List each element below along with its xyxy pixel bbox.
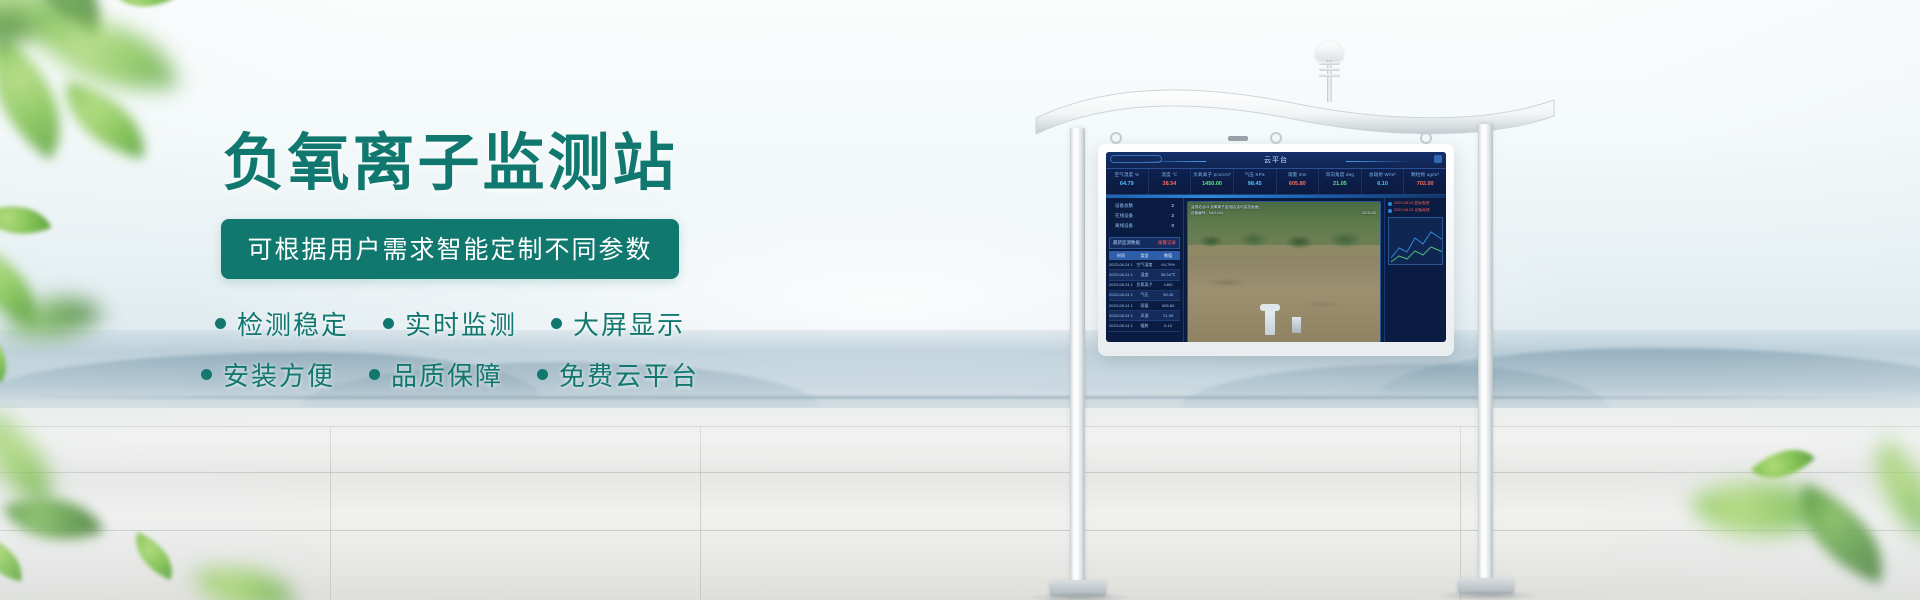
weather-sensor-mast (1312, 32, 1346, 98)
metric-cell: 总辐射 W/m²6.10 (1362, 169, 1405, 194)
support-post-right (1478, 124, 1493, 586)
table-cell: 负氧离子 (1133, 281, 1157, 290)
table-row[interactable]: 2023-08-24 10:29:02负氧离子1450 (1109, 281, 1180, 291)
metric-value: 605.80 (1277, 181, 1319, 187)
panel-title-left: 最新监测数据 (1113, 240, 1140, 246)
table-cell: 21.05 (1156, 311, 1180, 320)
table-row[interactable]: 2023-08-24 10:25:02辐射6.10 (1109, 321, 1180, 331)
metric-cell: 负氧离子 pcs/cm³1450.00 (1191, 169, 1234, 194)
stat-key: 离线设备 (1115, 223, 1133, 229)
table-cell: 风速 (1133, 311, 1157, 320)
alarm-text: 2023-08-23 设备离线 (1394, 208, 1430, 213)
data-table: 时间类型数值 2023-08-24 10:31:02空气湿度64.79%2023… (1109, 251, 1180, 332)
video-overlay-line1: 监测站点01 负氧离子监测站(实时监控画面) (1191, 205, 1259, 210)
table-cell: 2023-08-24 10:31:02 (1109, 260, 1133, 269)
pavement-line (700, 426, 701, 600)
video-treeline (1188, 219, 1380, 256)
table-row[interactable]: 2023-08-24 10:31:02空气湿度64.79% (1109, 260, 1180, 270)
metric-value: 1450.00 (1191, 181, 1233, 187)
metric-value: 702.00 (1404, 181, 1446, 187)
alarm-text: 2023-08-24 超标报警 (1394, 201, 1430, 206)
metric-value: 98.45 (1234, 181, 1276, 187)
metric-cell: 温度 ℃38.54 (1149, 169, 1192, 194)
hanger-ring-icon (1420, 132, 1432, 144)
metric-strip: 空气湿度 %64.79温度 ℃38.54负氧离子 pcs/cm³1450.00气… (1106, 169, 1446, 195)
metric-label: 雨量 mm (1277, 172, 1319, 178)
feature-list: 检测稳定 实时监测 大屏显示 安装方便 品质保障 (0, 305, 900, 393)
dashboard-title: 云平台 (1106, 155, 1446, 165)
alert-dot-icon (1388, 202, 1392, 206)
stat-row: 离线设备0 (1109, 221, 1180, 231)
gear-icon[interactable] (1434, 155, 1442, 163)
bullet-dot-icon (551, 318, 562, 329)
hanger-ring-icon (1110, 132, 1122, 144)
table-cell: 98.45 (1156, 291, 1180, 300)
feature-item: 大屏显示 (551, 305, 685, 342)
video-overlay-line2: 设备编号：NKZ-001 (1191, 211, 1223, 216)
stat-row: 在线设备2 (1109, 211, 1180, 221)
sensor-head-icon (1316, 42, 1343, 60)
pavement-line (0, 426, 1920, 427)
sensor-fin (1319, 74, 1340, 77)
stat-key: 设备总数 (1115, 203, 1133, 209)
table-header-cell: 数值 (1156, 251, 1180, 260)
stat-value: 2 (1171, 203, 1174, 209)
feature-row-1: 检测稳定 实时监测 大屏显示 (0, 305, 900, 342)
badge-row: 可根据用户需求智能定制不同参数 (0, 219, 900, 279)
table-cell: 2023-08-24 10:28:02 (1109, 291, 1133, 300)
feature-label: 免费云平台 (559, 356, 699, 393)
bullet-dot-icon (537, 369, 548, 380)
table-cell: 2023-08-24 10:25:02 (1109, 321, 1133, 330)
table-header-cell: 类型 (1133, 251, 1157, 260)
subtitle-badge: 可根据用户需求智能定制不同参数 (221, 219, 678, 279)
metric-cell: 颗粒物 ug/m³702.00 (1404, 169, 1446, 194)
table-cell: 空气湿度 (1133, 260, 1157, 269)
table-cell: 1450 (1156, 281, 1180, 290)
dashboard-screen[interactable]: 云平台 空气湿度 %64.79温度 ℃38.54负氧离子 pcs/cm³1450… (1106, 152, 1446, 342)
metric-value: 38.54 (1149, 181, 1191, 187)
mount-bracket (1228, 136, 1248, 141)
alarm-row[interactable]: 2023-08-23 设备离线 (1388, 208, 1443, 213)
metric-cell: 雨量 mm605.80 (1277, 169, 1320, 194)
alert-dot-icon (1388, 209, 1392, 213)
video-station-object (1265, 309, 1275, 335)
table-cell: 64.79% (1156, 260, 1180, 269)
metric-label: 风向角度 deg (1319, 172, 1361, 178)
table-cell: 2023-08-24 10:30:02 (1109, 270, 1133, 279)
metric-value: 21.05 (1319, 181, 1361, 187)
table-cell: 2023-08-24 10:27:02 (1109, 301, 1133, 310)
feature-label: 实时监测 (405, 305, 517, 342)
table-cell: 2023-08-24 10:29:02 (1109, 281, 1133, 290)
table-row[interactable]: 2023-08-24 10:28:02气压98.45 (1109, 291, 1180, 301)
bullet-dot-icon (215, 318, 226, 329)
table-header-cell: 时间 (1109, 251, 1133, 260)
panel-title-right: 报警记录 (1158, 240, 1176, 246)
stat-row: 设备总数2 (1109, 201, 1180, 211)
alarm-row[interactable]: 2023-08-24 超标报警 (1388, 201, 1443, 206)
table-cell: 气压 (1133, 291, 1157, 300)
metric-label: 温度 ℃ (1149, 172, 1191, 178)
table-cell: 6.10 (1156, 321, 1180, 330)
feature-row-2: 安装方便 品质保障 免费云平台 (0, 356, 900, 393)
panel-header: 最新监测数据 报警记录 (1109, 237, 1180, 249)
stat-key: 在线设备 (1115, 213, 1133, 219)
metric-cell: 空气湿度 %64.79 (1106, 169, 1149, 194)
metric-value: 6.10 (1362, 181, 1404, 187)
dashboard-header: 云平台 (1106, 152, 1446, 169)
bullet-dot-icon (201, 369, 212, 380)
feature-item: 实时监测 (383, 305, 517, 342)
table-cell: 温度 (1133, 270, 1157, 279)
metric-label: 气压 KPa (1234, 172, 1276, 178)
pavement-line (0, 472, 1920, 473)
table-cell: 38.54℃ (1156, 270, 1180, 279)
table-row[interactable]: 2023-08-24 10:27:02雨量605.80 (1109, 301, 1180, 311)
feature-label: 检测稳定 (237, 305, 349, 342)
video-cabinet-object (1292, 317, 1301, 333)
hero-copy: 负氧离子监测站 可根据用户需求智能定制不同参数 检测稳定 实时监测 大屏显示 (0, 130, 900, 407)
table-header-row: 时间类型数值 (1109, 251, 1180, 260)
bullet-dot-icon (383, 318, 394, 329)
trend-chart (1388, 217, 1443, 265)
stat-value: 2 (1171, 213, 1174, 219)
bullet-dot-icon (369, 369, 380, 380)
page-title: 负氧离子监测站 (0, 130, 900, 197)
feature-label: 品质保障 (391, 356, 503, 393)
monitoring-station-kiosk: 云平台 空气湿度 %64.79温度 ℃38.54负氧离子 pcs/cm³1450… (1010, 20, 1570, 600)
table-row[interactable]: 2023-08-24 10:26:02风速21.05 (1109, 311, 1180, 321)
table-cell: 605.80 (1156, 301, 1180, 310)
ground-shadow (1028, 592, 1132, 600)
metric-label: 空气湿度 % (1106, 172, 1148, 178)
video-ground (1188, 256, 1380, 342)
feature-item: 安装方便 (201, 356, 335, 393)
metric-cell: 风向角度 deg21.05 (1319, 169, 1362, 194)
support-post-left (1070, 128, 1085, 586)
table-cell: 雨量 (1133, 301, 1157, 310)
feature-item: 免费云平台 (537, 356, 699, 393)
pavement-line (0, 530, 1920, 531)
metric-label: 颗粒物 ug/m³ (1404, 172, 1446, 178)
sensor-fin (1319, 68, 1340, 71)
alarm-panel: 2023-08-24 超标报警2023-08-23 设备离线 (1384, 198, 1446, 342)
table-row[interactable]: 2023-08-24 10:30:02温度38.54℃ (1109, 270, 1180, 280)
stats-panel: 设备总数2在线设备2离线设备0 最新监测数据 报警记录 时间类型数值 2023-… (1106, 198, 1184, 342)
pavement-ground (0, 408, 1920, 600)
feature-item: 检测稳定 (215, 305, 349, 342)
metric-cell: 气压 KPa98.45 (1234, 169, 1277, 194)
metric-value: 64.79 (1106, 181, 1148, 187)
table-cell: 辐射 (1133, 321, 1157, 330)
hero-banner: 负氧离子监测站 可根据用户需求智能定制不同参数 检测稳定 实时监测 大屏显示 (0, 0, 1920, 600)
metric-label: 负氧离子 pcs/cm³ (1191, 172, 1233, 178)
hanger-ring-icon (1270, 132, 1282, 144)
ground-shadow (1436, 590, 1540, 600)
feature-item: 品质保障 (369, 356, 503, 393)
stat-value: 0 (1171, 223, 1174, 229)
feature-label: 安装方便 (223, 356, 335, 393)
display-bezel: 云平台 空气湿度 %64.79温度 ℃38.54负氧离子 pcs/cm³1450… (1098, 144, 1454, 356)
live-video-feed[interactable]: 监测站点01 负氧离子监测站(实时监控画面) 设备编号：NKZ-001 10:3… (1187, 201, 1381, 342)
video-timestamp: 10:31:02 (1362, 211, 1376, 215)
table-cell: 2023-08-24 10:26:02 (1109, 311, 1133, 320)
feature-label: 大屏显示 (573, 305, 685, 342)
sensor-fin (1319, 62, 1340, 65)
video-panel[interactable]: 监测站点01 负氧离子监测站(实时监控画面) 设备编号：NKZ-001 10:3… (1184, 198, 1384, 342)
pavement-line (330, 426, 331, 600)
metric-label: 总辐射 W/m² (1362, 172, 1404, 178)
dashboard-body: 设备总数2在线设备2离线设备0 最新监测数据 报警记录 时间类型数值 2023-… (1106, 198, 1446, 342)
